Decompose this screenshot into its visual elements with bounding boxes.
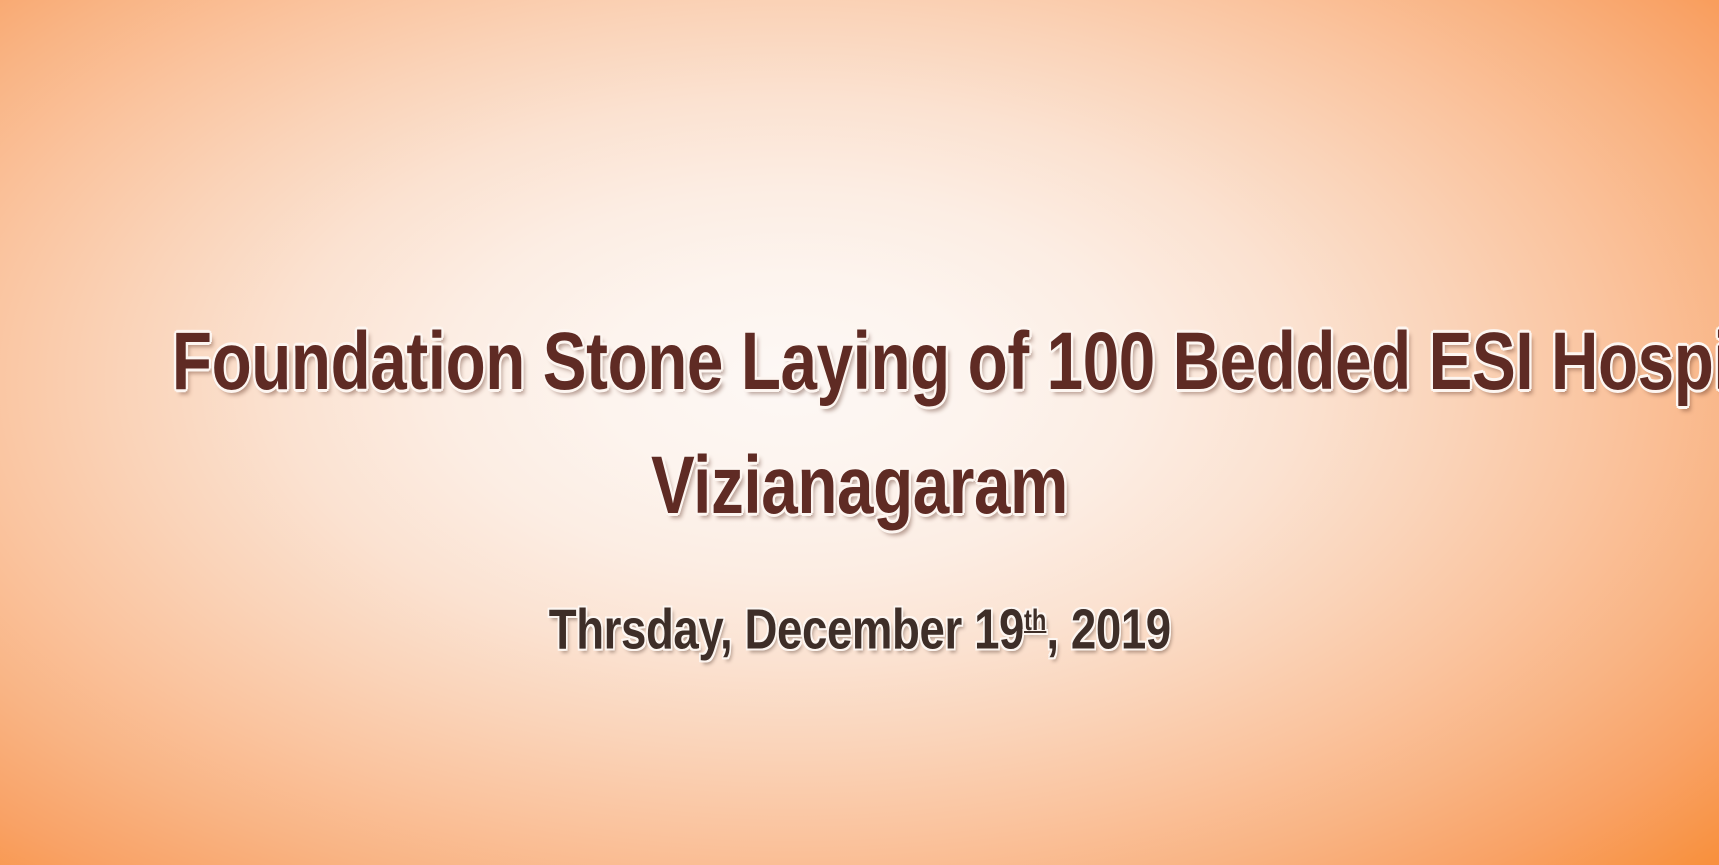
title-line-2: Vizianagaram (172, 424, 1547, 548)
date-ordinal-suffix: th (1024, 604, 1046, 637)
presentation-slide: Foundation Stone Laying of 100 Bedded ES… (0, 0, 1719, 865)
date-line: Thrsday, December 19th, 2019 (548, 578, 1170, 672)
slide-title: Foundation Stone Laying of 100 Bedded ES… (0, 300, 1719, 548)
title-line-1: Foundation Stone Laying of 100 Bedded ES… (172, 300, 1547, 424)
date-year: , 2019 (1046, 597, 1170, 661)
date-day-number: 19 (974, 597, 1024, 661)
date-weekday-month: Thrsday, December (548, 597, 973, 661)
slide-date: Thrsday, December 19th, 2019 (0, 578, 1719, 672)
